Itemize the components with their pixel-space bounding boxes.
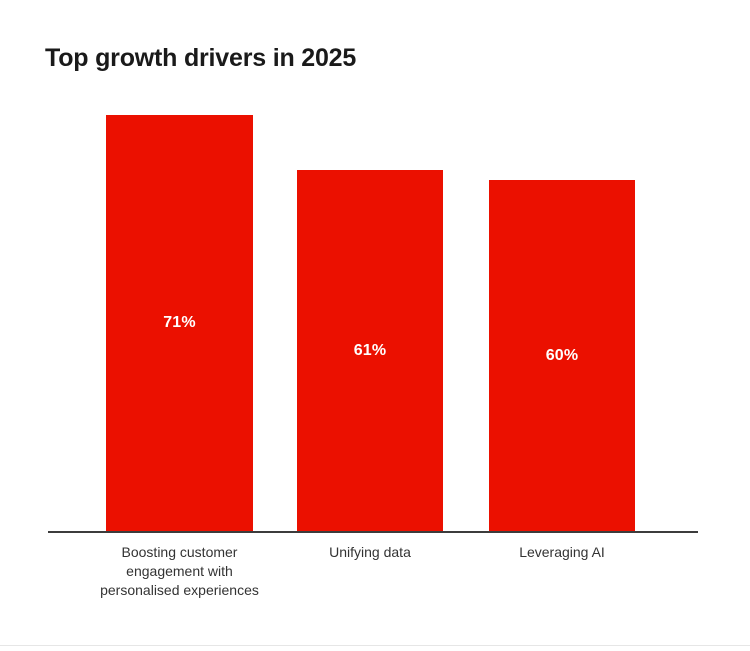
bar-group[interactable]: 71% xyxy=(106,115,253,532)
x-axis-line xyxy=(48,531,698,533)
category-label-0: Boosting customer engagement with person… xyxy=(84,543,275,600)
bar-value-label: 60% xyxy=(489,347,635,365)
bar-value-label: 71% xyxy=(106,314,253,332)
category-label-line: Unifying data xyxy=(297,543,443,562)
bar-group[interactable]: 60% xyxy=(489,180,635,532)
bar-group[interactable]: 61% xyxy=(297,170,443,532)
category-label-line: personalised experiences xyxy=(84,581,275,600)
category-label-2: Leveraging AI xyxy=(489,543,635,562)
category-label-line: Leveraging AI xyxy=(489,543,635,562)
plot-area: 71% 61% 60% Boosting customer engagement… xyxy=(0,0,750,651)
category-label-1: Unifying data xyxy=(297,543,443,562)
category-label-line: Boosting customer xyxy=(84,543,275,562)
footer-divider xyxy=(0,645,750,646)
bar-chart: Top growth drivers in 2025 71% 61% 60% B… xyxy=(0,0,750,651)
category-label-line: engagement with xyxy=(84,562,275,581)
bar-value-label: 61% xyxy=(297,342,443,360)
